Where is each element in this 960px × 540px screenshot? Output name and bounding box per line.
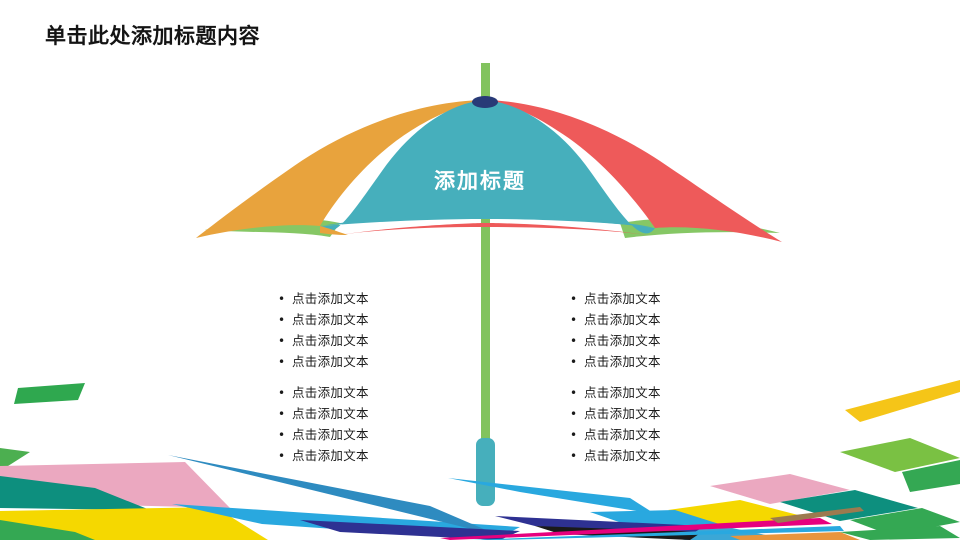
list-item-label: 点击添加文本 (292, 351, 369, 372)
list-item-label: 点击添加文本 (584, 330, 661, 351)
deco-shape-yellow-arc (845, 380, 960, 422)
deco-shape-green-sliver (14, 383, 85, 404)
bullet-marker-icon: • (570, 289, 584, 310)
list-item[interactable]: • 点击添加文本 (278, 351, 369, 372)
bullet-group: • 点击添加文本 • 点击添加文本 • 点击添加文本 • 点击添加文本 (570, 288, 661, 372)
list-item-label: 点击添加文本 (292, 330, 369, 351)
list-item-label: 点击添加文本 (584, 351, 661, 372)
list-item-label: 点击添加文本 (292, 288, 369, 309)
list-item-label: 点击添加文本 (292, 309, 369, 330)
bullet-marker-icon: • (570, 310, 584, 331)
decoration-bottom-right (440, 380, 960, 540)
deco-shape-blue-wedge (448, 478, 655, 514)
deco-shape-green-small (0, 448, 30, 466)
list-item[interactable]: • 点击添加文本 (278, 288, 369, 309)
list-item[interactable]: • 点击添加文本 (570, 288, 661, 309)
bullet-group: • 点击添加文本 • 点击添加文本 • 点击添加文本 • 点击添加文本 (278, 288, 369, 372)
bullet-marker-icon: • (278, 310, 292, 331)
bullet-marker-icon: • (570, 352, 584, 373)
bullet-marker-icon: • (278, 352, 292, 373)
umbrella-tip-cap (472, 96, 498, 108)
list-item[interactable]: • 点击添加文本 (278, 330, 369, 351)
list-item-label: 点击添加文本 (584, 309, 661, 330)
list-item[interactable]: • 点击添加文本 (278, 309, 369, 330)
list-item[interactable]: • 点击添加文本 (570, 330, 661, 351)
bullet-marker-icon: • (278, 289, 292, 310)
list-item-label: 点击添加文本 (584, 288, 661, 309)
bullet-marker-icon: • (278, 331, 292, 352)
bullet-marker-icon: • (570, 331, 584, 352)
page-title: 单击此处添加标题内容 (45, 24, 260, 49)
list-item[interactable]: • 点击添加文本 (570, 309, 661, 330)
canopy-rim-accent-red (338, 223, 648, 235)
slide-canvas: 单击此处添加标题内容 添加标题 (0, 0, 960, 540)
list-item[interactable]: • 点击添加文本 (570, 351, 661, 372)
